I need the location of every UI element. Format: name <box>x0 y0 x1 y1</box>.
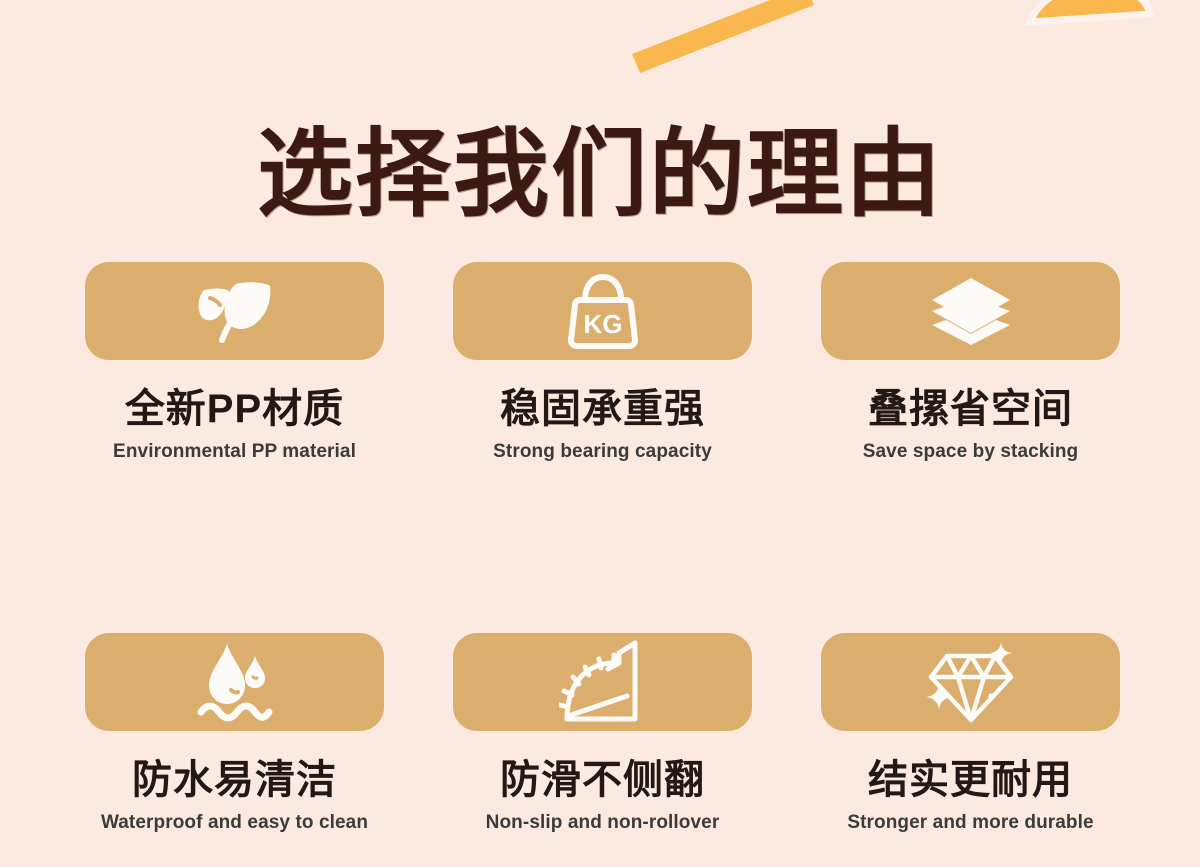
slope-gauge-icon <box>559 639 647 725</box>
icon-plate <box>453 633 752 731</box>
feature-title-cn: 稳固承重强 <box>453 388 752 430</box>
feature-title-en: Strong bearing capacity <box>453 442 752 463</box>
icon-plate: KG <box>453 262 752 360</box>
feature-title-cn: 结实更耐用 <box>821 759 1120 801</box>
stacked-layers-icon <box>930 276 1012 346</box>
feature-grid: 全新PP材质 Environmental PP material KG 稳固承重… <box>85 262 1120 834</box>
diamond-sparkle-icon <box>925 640 1017 724</box>
leaf-icon <box>196 278 274 344</box>
decoration-layer <box>0 0 1200 120</box>
feature-title-en: Non-slip and non-rollover <box>453 813 752 834</box>
feature-card-stacking[interactable]: 叠摞省空间 Save space by stacking <box>821 262 1120 463</box>
kg-label: KG <box>583 309 622 339</box>
feature-card-nonslip[interactable]: 防滑不侧翻 Non-slip and non-rollover <box>453 633 752 834</box>
corner-blob-icon <box>1030 0 1150 22</box>
sparkle-dot-icon <box>988 693 993 698</box>
icon-plate <box>821 262 1120 360</box>
feature-title-en: Environmental PP material <box>85 442 384 463</box>
feature-title-en: Save space by stacking <box>821 442 1120 463</box>
icon-plate <box>85 262 384 360</box>
sparkle-left-icon <box>926 684 952 710</box>
feature-card-bearing-capacity[interactable]: KG 稳固承重强 Strong bearing capacity <box>453 262 752 463</box>
weight-kg-icon: KG <box>566 272 640 350</box>
icon-plate <box>821 633 1120 731</box>
feature-title-cn: 防水易清洁 <box>85 759 384 801</box>
diagonal-stripe-icon <box>632 0 814 73</box>
feature-card-durable[interactable]: 结实更耐用 Stronger and more durable <box>821 633 1120 834</box>
feature-title-cn: 防滑不侧翻 <box>453 759 752 801</box>
page-title: 选择我们的理由 <box>0 127 1200 223</box>
feature-card-waterproof[interactable]: 防水易清洁 Waterproof and easy to clean <box>85 633 384 834</box>
feature-title-cn: 叠摞省空间 <box>821 388 1120 430</box>
water-drop-icon <box>197 642 273 722</box>
feature-title-en: Waterproof and easy to clean <box>85 813 384 834</box>
feature-title-en: Stronger and more durable <box>821 813 1120 834</box>
icon-plate <box>85 633 384 731</box>
feature-title-cn: 全新PP材质 <box>85 388 384 430</box>
feature-card-pp-material[interactable]: 全新PP材质 Environmental PP material <box>85 262 384 463</box>
